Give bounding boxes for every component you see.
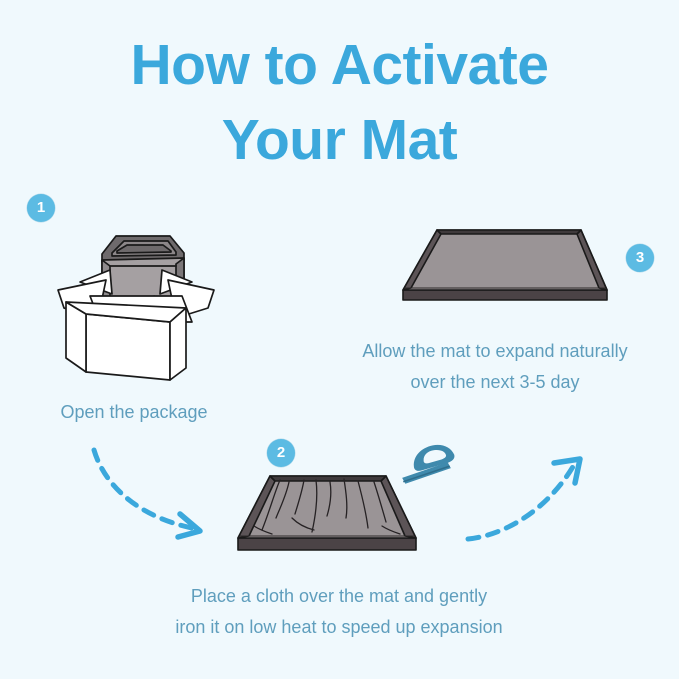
step-caption-1: Open the package (0, 397, 268, 428)
step-badge-1: 1 (27, 194, 55, 222)
arrow-step2-to-step3 (462, 443, 597, 548)
step-badge-3: 3 (626, 244, 654, 272)
step-caption-3-line-1: Allow the mat to expand naturally (320, 336, 670, 367)
page-title: How to Activate Your Mat (0, 28, 679, 178)
page-title-line-1: How to Activate (0, 28, 679, 103)
step-caption-2-line-2: iron it on low heat to speed up expansio… (75, 612, 603, 643)
flat-mat-icon (395, 218, 615, 318)
infographic-canvas: How to Activate Your Mat 1 (0, 0, 679, 679)
step-caption-2-line-1: Place a cloth over the mat and gently (75, 581, 603, 612)
step-caption-2: Place a cloth over the mat and gently ir… (75, 581, 603, 643)
wrinkled-mat-icon (232, 466, 422, 566)
step-caption-3: Allow the mat to expand naturally over t… (320, 336, 670, 398)
step-caption-1-line-1: Open the package (0, 397, 268, 428)
page-title-line-2: Your Mat (0, 103, 679, 178)
step-caption-3-line-2: over the next 3-5 day (320, 367, 670, 398)
arrow-step1-to-step2 (88, 444, 218, 544)
iron-icon (398, 441, 458, 489)
open-cardboard-box-icon (50, 222, 220, 382)
step-badge-2: 2 (267, 439, 295, 467)
